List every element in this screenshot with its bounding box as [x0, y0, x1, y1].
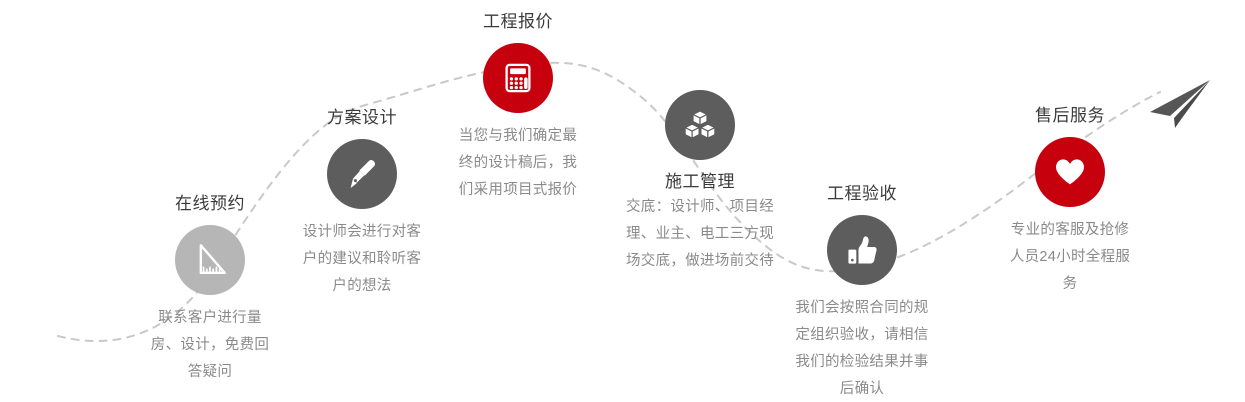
desc-line: 交底：设计师、项目经 — [600, 194, 800, 221]
desc-line: 当您与我们确定最 — [428, 123, 608, 150]
fountain-pen-icon — [327, 139, 397, 209]
step-2-scheme-design[interactable]: 方案设计 设计师会进行对客 户的建议和聆听客 户的想法 — [272, 106, 452, 300]
step-description: 联系客户进行量 房、设计，免费回 答疑问 — [120, 305, 300, 386]
desc-line: 房、设计，免费回 — [120, 332, 300, 359]
step-5-project-acceptance[interactable]: 工程验收 我们会按照合同的规 定组织验收，请相信 我们的检验结果并事 后确认 — [772, 182, 952, 402]
step-description: 专业的客服及抢修 人员24小时全程服 务 — [980, 217, 1160, 298]
step-description: 交底：设计师、项目经 理、业主、电工三方现 场交底，做进场前交待 — [600, 194, 800, 275]
desc-line: 们采用项目式报价 — [428, 177, 608, 204]
cubes-icon — [665, 90, 735, 160]
desc-line: 终的设计稿后，我 — [428, 150, 608, 177]
step-title: 施工管理 — [600, 170, 800, 194]
desc-line: 我们会按照合同的规 — [772, 295, 952, 322]
desc-line: 理、业主、电工三方现 — [600, 221, 800, 248]
step-6-after-sales-service[interactable]: 售后服务 专业的客服及抢修 人员24小时全程服 务 — [980, 104, 1160, 298]
step-3-project-quotation[interactable]: 工程报价 当您与我们确 — [428, 10, 608, 204]
desc-line: 定组织验收，请相信 — [772, 322, 952, 349]
desc-line: 户的建议和聆听客 — [272, 246, 452, 273]
desc-line: 我们的检验结果并事 — [772, 349, 952, 376]
step-description: 设计师会进行对客 户的建议和聆听客 户的想法 — [272, 219, 452, 300]
desc-line: 后确认 — [772, 376, 952, 402]
desc-line: 人员24小时全程服 — [980, 244, 1160, 271]
desc-line: 专业的客服及抢修 — [980, 217, 1160, 244]
step-title: 工程报价 — [428, 10, 608, 34]
step-4-construction-management[interactable]: 施工管理 交底：设计师、项目经 理、业主、电工三方现 场交底，做进场前交待 — [600, 90, 800, 275]
step-title: 售后服务 — [980, 104, 1160, 128]
step-description: 当您与我们确定最 终的设计稿后，我 们采用项目式报价 — [428, 123, 608, 204]
desc-line: 联系客户进行量 — [120, 305, 300, 332]
triangle-ruler-icon — [175, 225, 245, 295]
thumbs-up-icon — [827, 215, 897, 285]
step-title: 工程验收 — [772, 182, 952, 206]
calculator-icon — [483, 43, 553, 113]
heart-icon — [1035, 137, 1105, 207]
desc-line: 户的想法 — [272, 273, 452, 300]
desc-line: 场交底，做进场前交待 — [600, 248, 800, 275]
process-flow-infographic: 在线预约 联系客户进行量 房、设计，免费回 答疑问 方案设计 — [0, 0, 1245, 402]
step-description: 我们会按照合同的规 定组织验收，请相信 我们的检验结果并事 后确认 — [772, 295, 952, 402]
desc-line: 答疑问 — [120, 359, 300, 386]
desc-line: 务 — [980, 271, 1160, 298]
desc-line: 设计师会进行对客 — [272, 219, 452, 246]
step-title: 方案设计 — [272, 106, 452, 130]
